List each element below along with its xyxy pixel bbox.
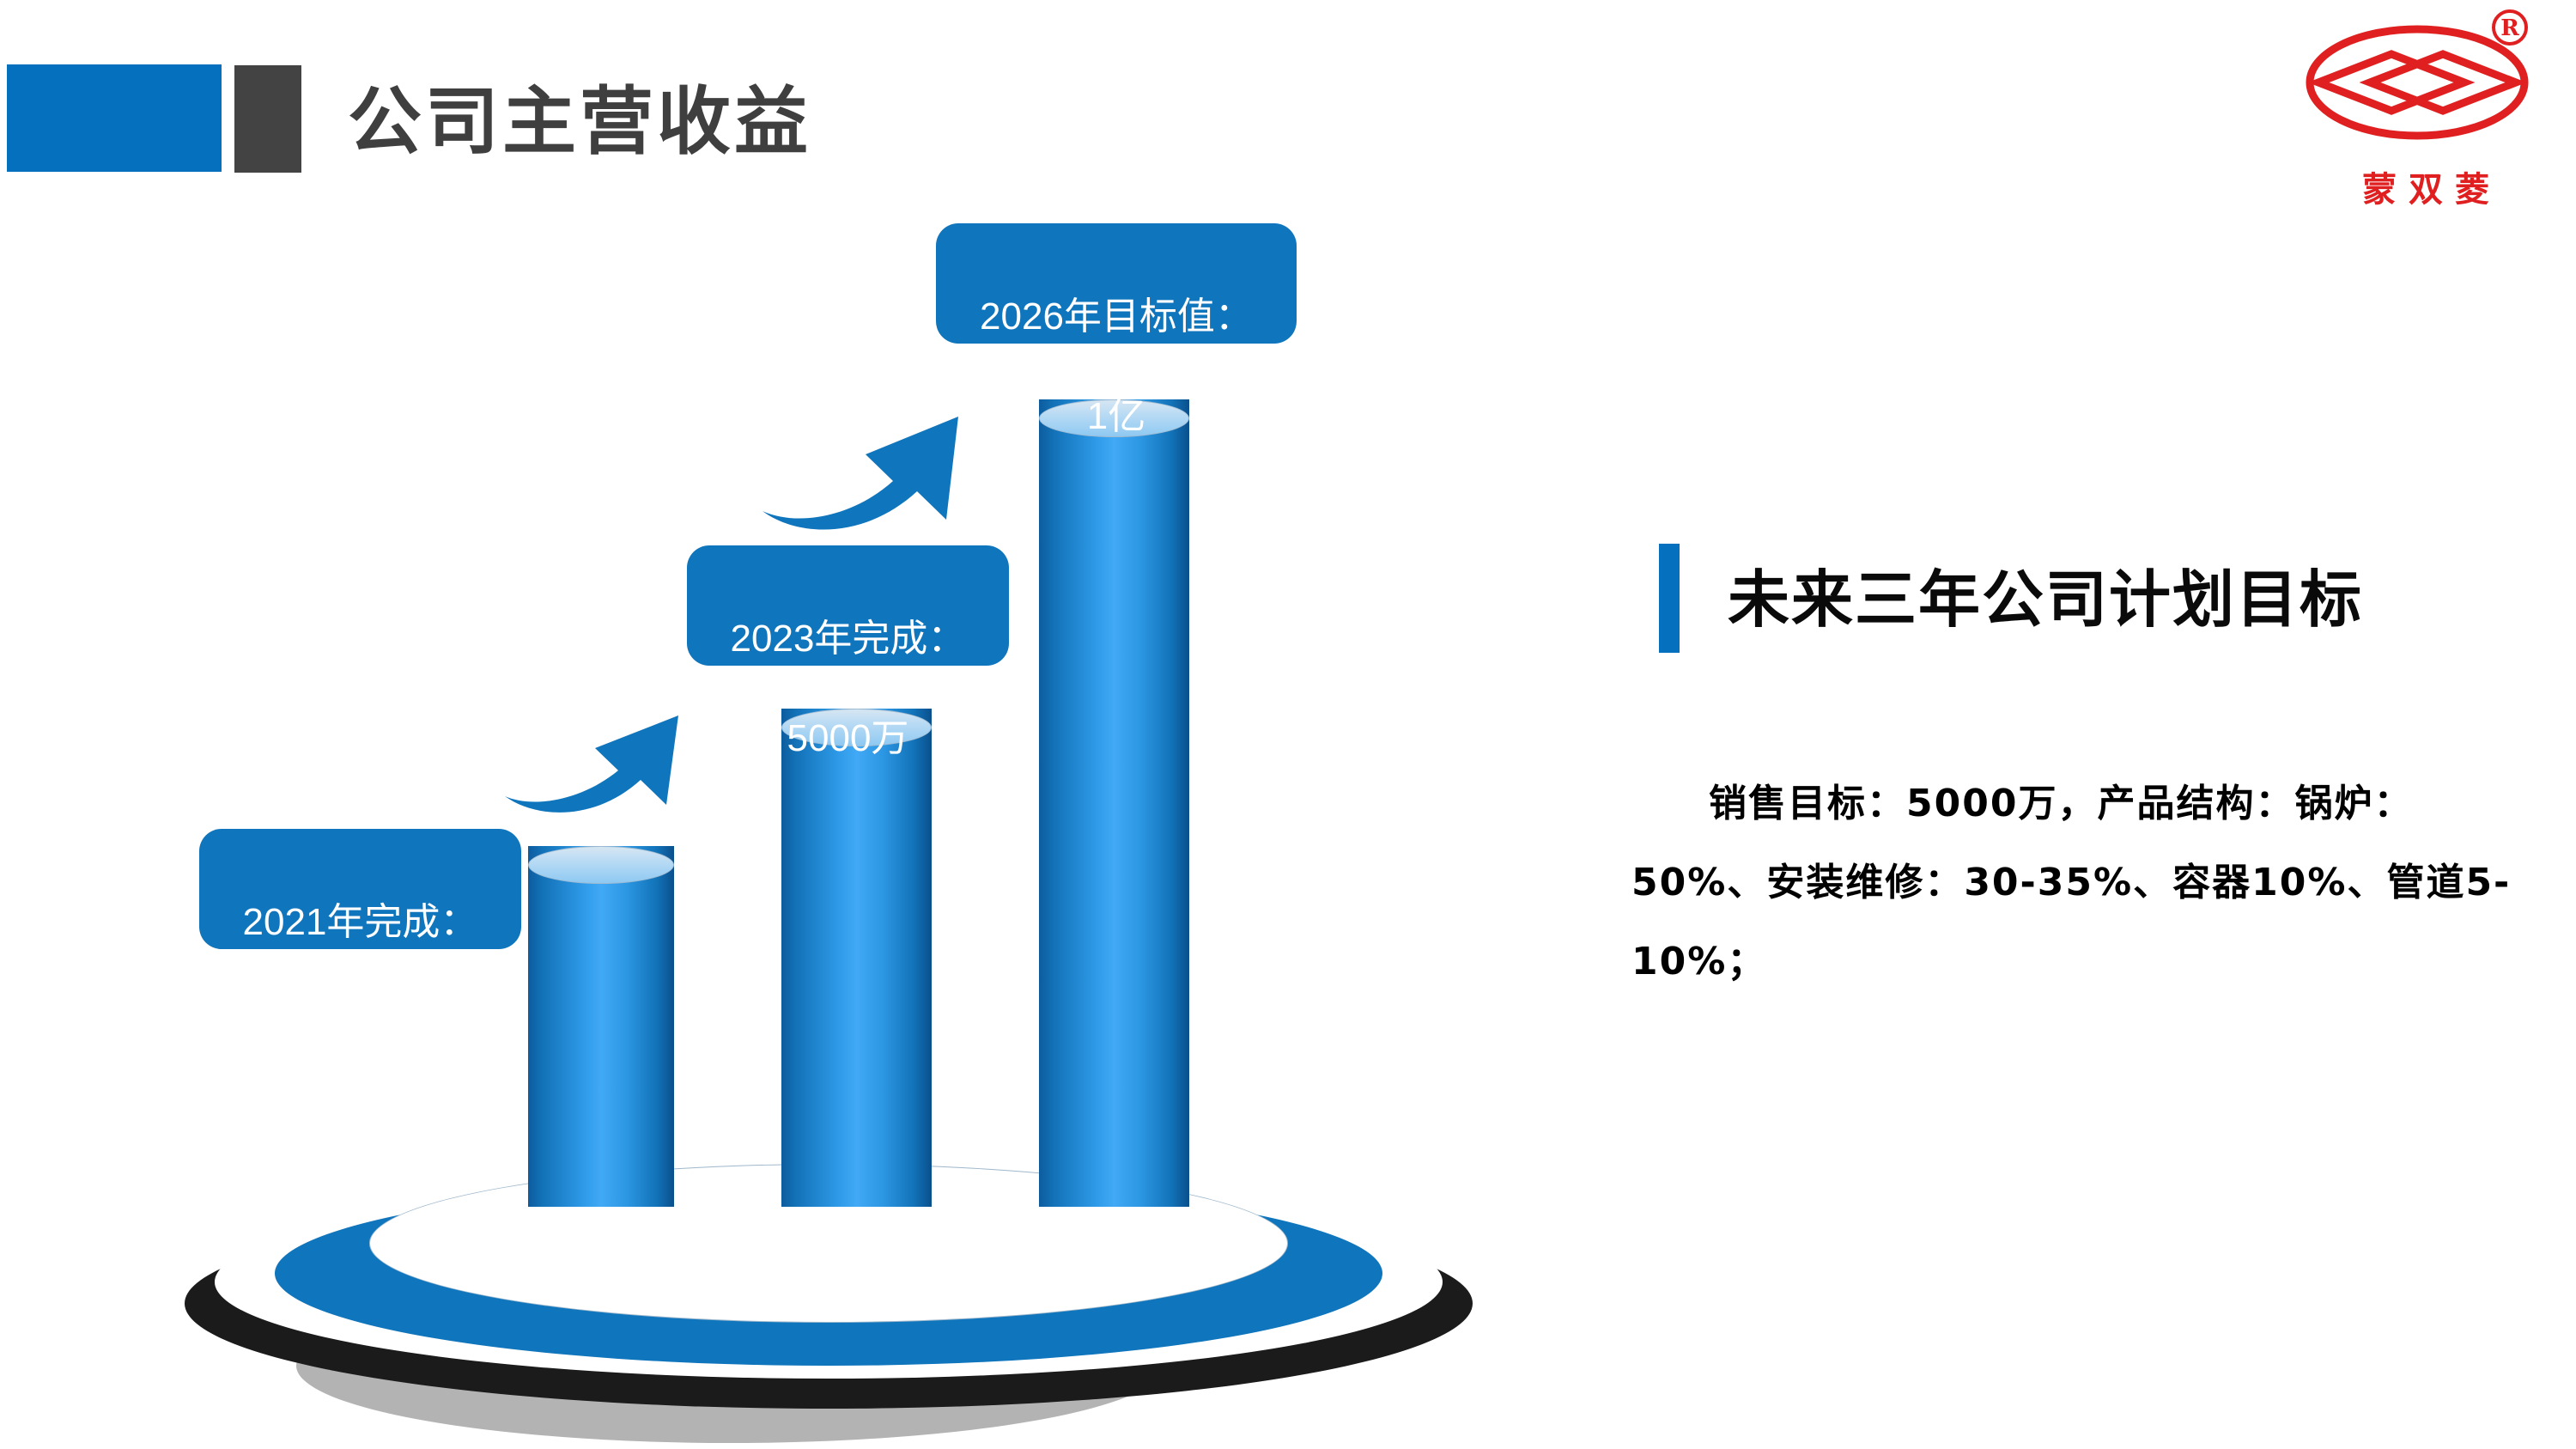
callout-2023-line2: 5000万 (787, 717, 909, 759)
callout-2026: 2026年目标值： 1亿 (936, 223, 1297, 344)
revenue-cylinder-chart: 2021年完成： 3000万 2023年完成： 5000万 2026年目标值： … (0, 0, 1546, 1449)
callout-2021-line1: 2021年完成： (243, 901, 478, 943)
callout-2026-line2: 1亿 (1087, 395, 1145, 437)
callout-2026-line1: 2026年目标值： (980, 295, 1253, 338)
bar-cylinder-2021-top (528, 846, 674, 884)
growth-arrow-2 (756, 391, 1005, 550)
callout-2021-line2: 3000万 (300, 1001, 422, 1043)
growth-arrow-icon-1 (498, 691, 721, 833)
bar-cylinder-2026 (1039, 399, 1189, 1207)
panel-body-text: 销售目标：5000万，产品结构：锅炉：50%、安装维修：30-35%、容器10%… (1631, 764, 2542, 1002)
bar-cylinder-2021 (528, 846, 674, 1207)
plan-panel: 未来三年公司计划目标 销售目标：5000万，产品结构：锅炉：50%、安装维修：3… (1631, 0, 2576, 1449)
callout-2023: 2023年完成： 5000万 (687, 545, 1009, 666)
bar-cylinder-2026-body (1039, 399, 1189, 1207)
bar-cylinder-2021-body (528, 846, 674, 1207)
bar-cylinder-2023-body (781, 709, 932, 1207)
panel-heading: 未来三年公司计划目标 (1728, 557, 2363, 642)
callout-2021: 2021年完成： 3000万 (199, 829, 521, 949)
panel-accent-bar (1659, 544, 1680, 653)
bar-cylinder-2023 (781, 709, 932, 1207)
callout-2023-line1: 2023年完成： (731, 618, 966, 660)
growth-arrow-1 (498, 691, 721, 833)
growth-arrow-icon-2 (756, 391, 1005, 550)
